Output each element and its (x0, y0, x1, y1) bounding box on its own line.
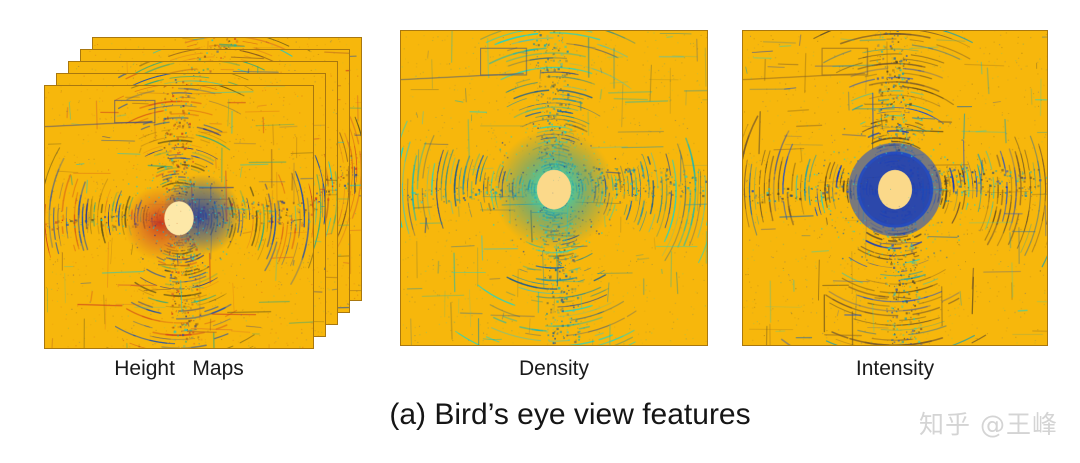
panel-label-density: Density (400, 358, 708, 379)
figure-caption: (a) Bird’s eye view features (330, 400, 810, 430)
intensity-feature-map (743, 31, 1047, 345)
panel-intensity (742, 30, 1048, 346)
panel-height-map-front (44, 85, 314, 349)
panel-group-height-maps (0, 0, 380, 360)
figure-root: Height Maps Density Intensity (a) Bird’s… (0, 0, 1080, 463)
panel-label-height-maps: Height Maps (44, 358, 314, 379)
panel-density (400, 30, 708, 346)
watermark: 知乎 @王峰 (919, 412, 1058, 437)
density-feature-map (401, 31, 707, 345)
height-feature-map (45, 86, 313, 348)
panel-label-intensity: Intensity (742, 358, 1048, 379)
